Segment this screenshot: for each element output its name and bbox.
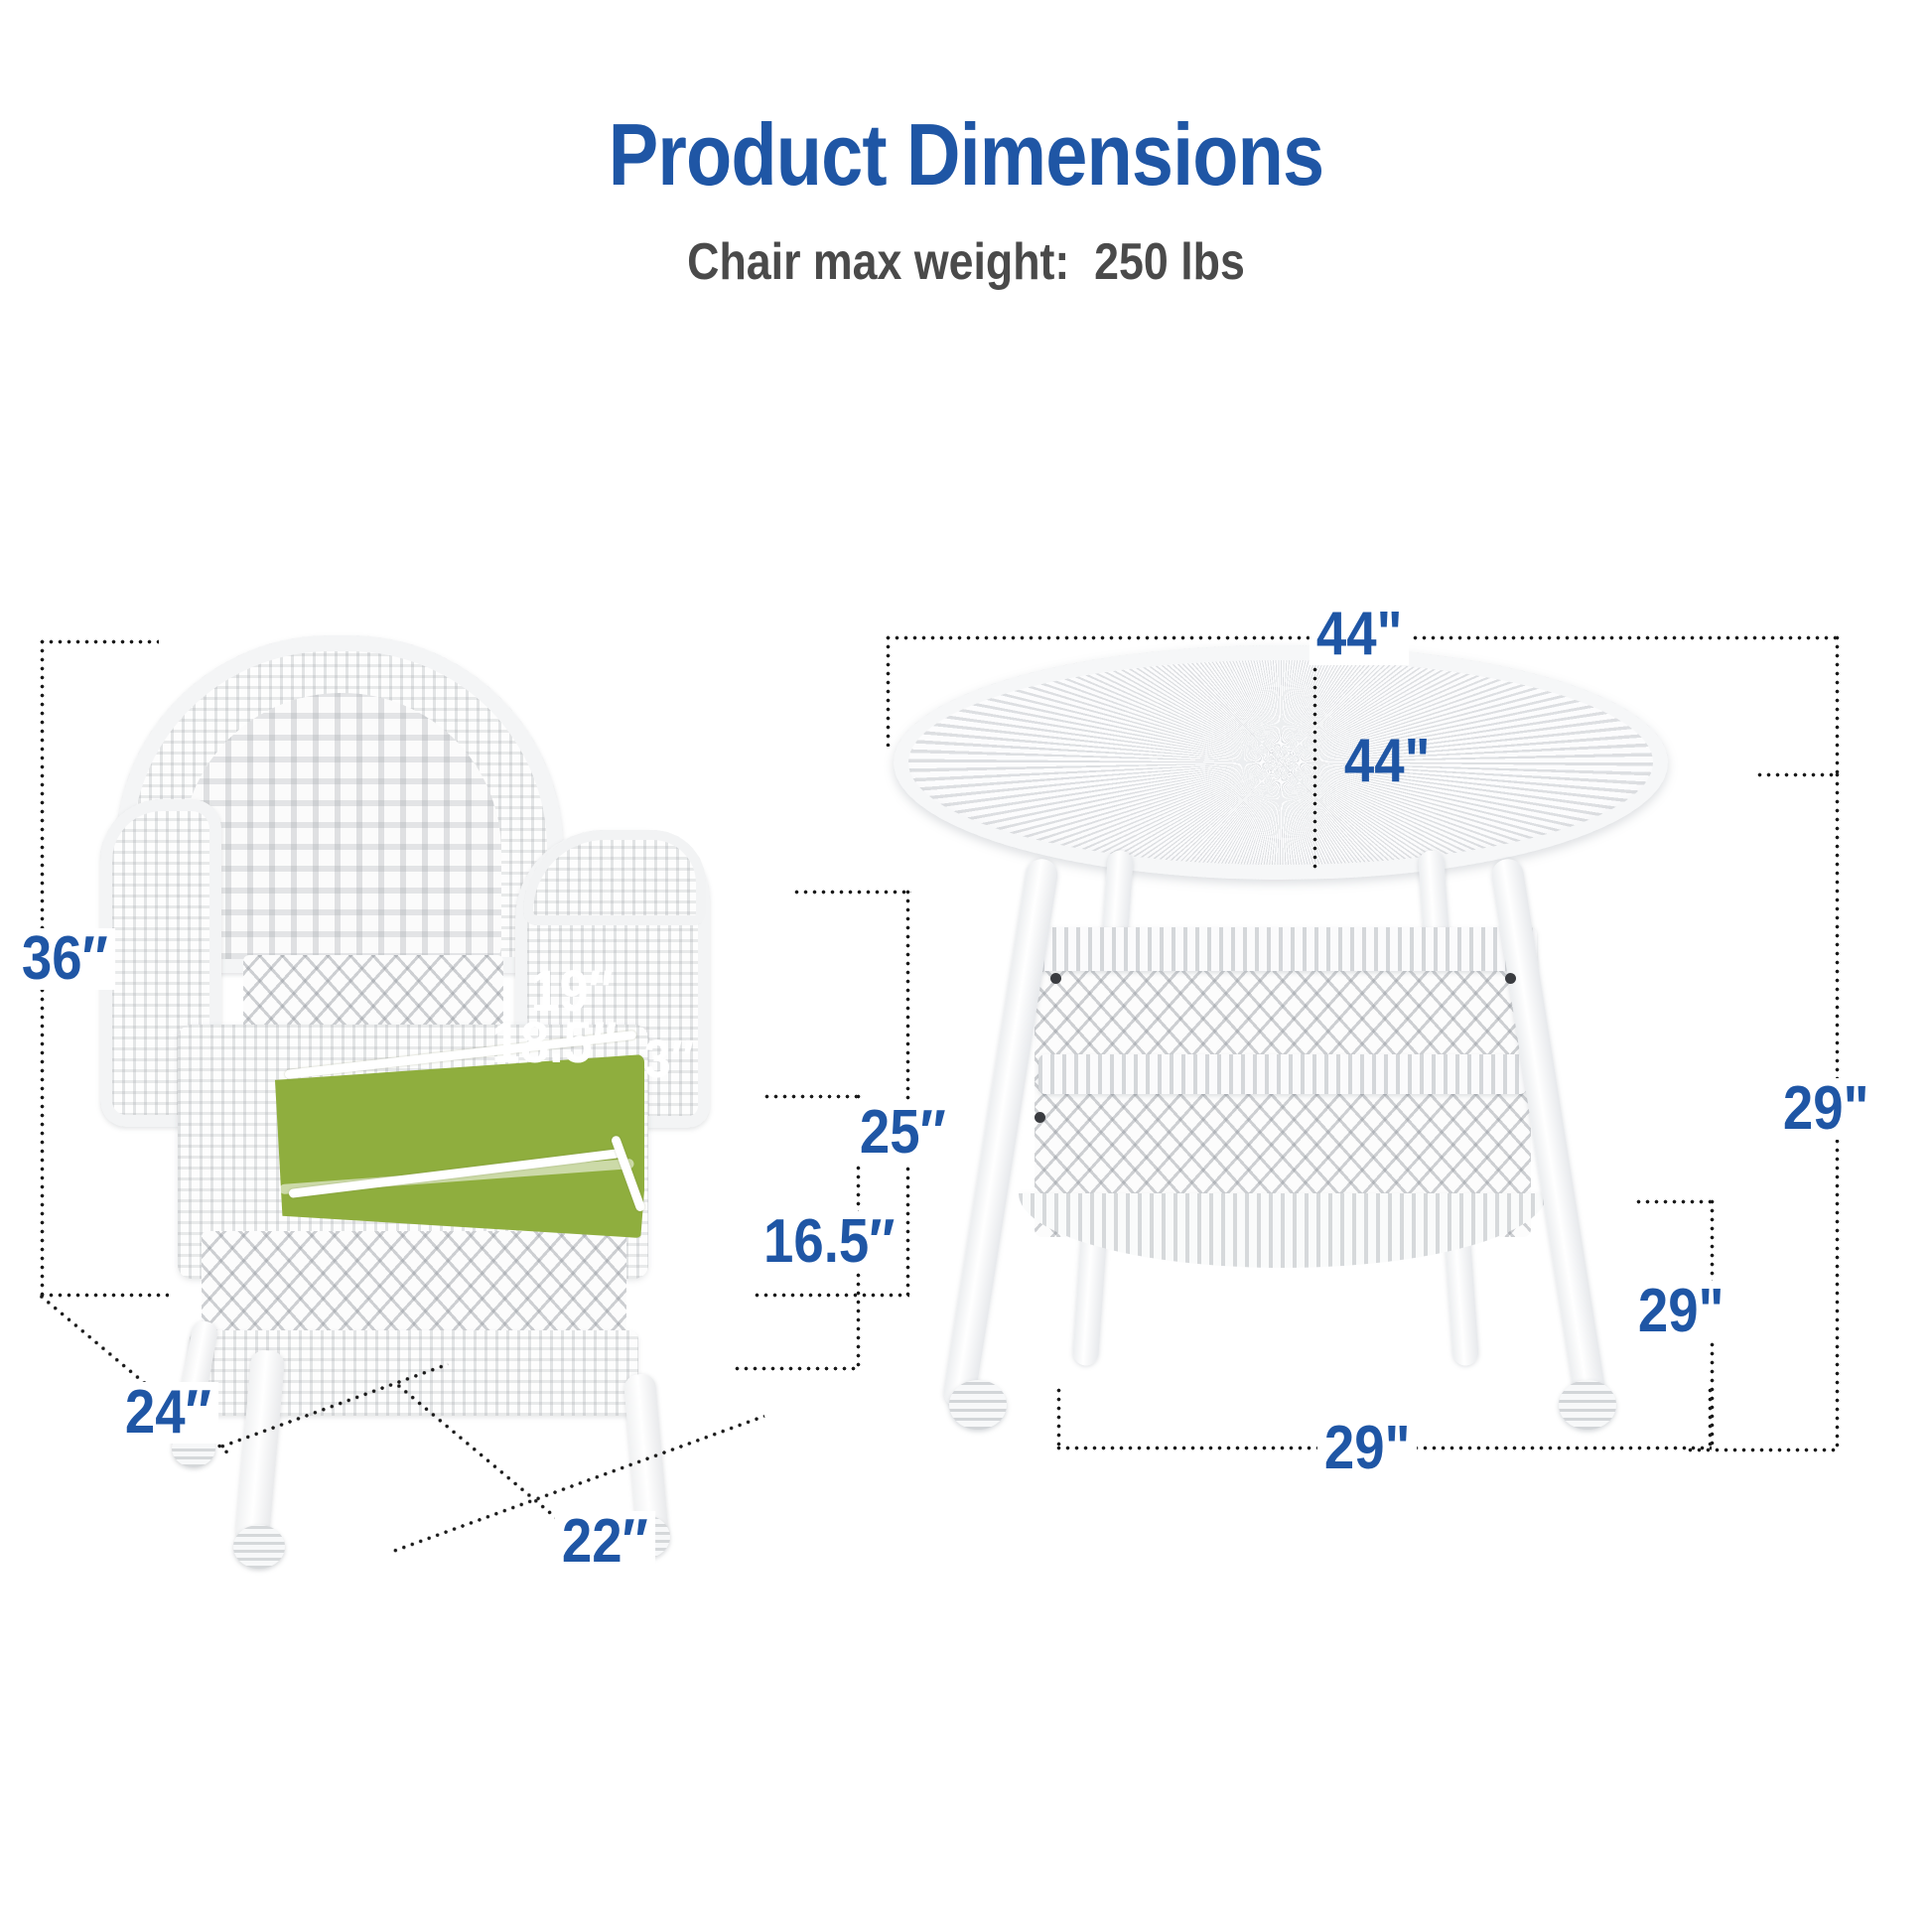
table-width-right-arm [1835,635,1840,774]
chair-depth-bottom-arm [40,1293,169,1298]
cushion-depth-label: 18.5″ [491,1015,618,1072]
table-illustration [874,645,1688,1509]
chair-height-label: 36″ [15,928,115,990]
tabletop-rim [894,645,1668,880]
table-base-width-left-arm [1056,1388,1061,1449]
table-base-depth-label: 29" [1631,1281,1731,1342]
max-weight-subtitle: Chair max weight: 250 lbs [135,236,1797,288]
table-base-width-right-arm [1708,1388,1713,1449]
table-base-width-label: 29" [1317,1418,1418,1479]
chair-seat-height-bottom-arm [735,1366,860,1371]
chair-seat-height-top-arm [764,1094,860,1099]
table-width-left-arm [886,635,891,747]
table-base-depth-top-arm [1636,1199,1714,1204]
table-shelf-lower-rail [1038,1054,1527,1094]
dimension-diagram: Product Dimensions Chair max weight: 250… [0,0,1932,1932]
table-top-diameter-label: 44" [1310,604,1410,665]
table-inner-diameter-label: 44" [1337,731,1438,792]
chair-front-left-foot [233,1525,285,1569]
table-left-foot [949,1380,1007,1430]
chair-height-top-arm [40,639,159,644]
table-right-foot [1559,1380,1616,1430]
header: Product Dimensions Chair max weight: 250… [0,0,1932,288]
chair-seat-cushion [275,1054,644,1238]
page-title: Product Dimensions [135,111,1797,199]
chair-width-label: 22″ [555,1511,655,1573]
table-height-label: 29" [1776,1078,1876,1140]
table-screw-left [1050,973,1061,984]
table-screw-lower-left [1035,1112,1045,1123]
table-screw-right [1505,973,1516,984]
table-height-top-arm [1757,772,1839,777]
chair-backrest-weave [182,693,501,959]
chair-skirt-lattice [202,1231,626,1342]
table-inner-diameter-line [1312,667,1317,872]
cushion-thickness-label: 3″ [644,1033,694,1086]
chair-depth-label: 24″ [118,1382,218,1444]
table-shelf-upper-rail [1029,927,1537,971]
